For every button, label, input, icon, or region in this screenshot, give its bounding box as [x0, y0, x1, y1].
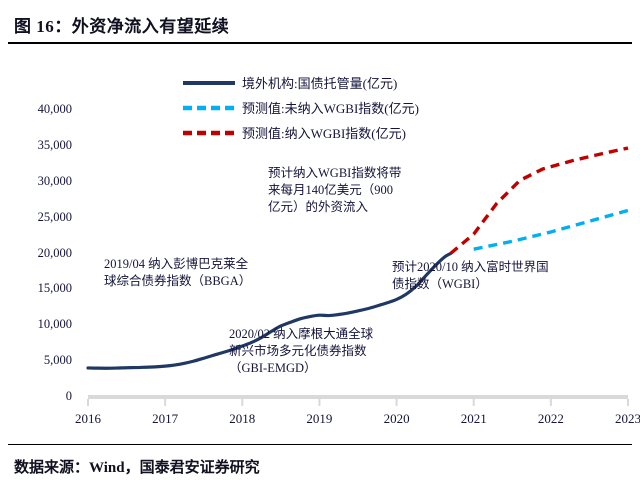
line-dashed-icon — [182, 101, 236, 115]
y-tick-label: 15,000 — [14, 281, 72, 296]
annotation-wgbi-inflow: 预计纳入WGBI指数将带 来每月140亿美元（900 亿元）的外资流入 — [268, 165, 468, 216]
x-tick-label: 2021 — [448, 411, 500, 427]
y-tick-label: 40,000 — [14, 102, 72, 117]
y-tick-label: 30,000 — [14, 174, 72, 189]
series-line-2 — [451, 148, 628, 253]
legend-item-1[interactable]: 境外机构:国债托管量(亿元) — [182, 70, 602, 95]
legend-item-2[interactable]: 预测值:未纳入WGBI指数(亿元) — [182, 95, 602, 120]
y-tick-label: 5,000 — [14, 353, 72, 368]
legend-label: 预测值:未纳入WGBI指数(亿元) — [242, 98, 419, 117]
y-tick-label: 20,000 — [14, 246, 72, 261]
figure-container: 图 16：外资净流入有望延续 40,00035,00030,00025,0002… — [0, 0, 640, 490]
annotation-bbga: 2019/04 纳入彭博巴克莱全 球综合债券指数（BBGA） — [104, 256, 314, 290]
chart-legend: 境外机构:国债托管量(亿元)预测值:未纳入WGBI指数(亿元)预测值:纳入WGB… — [182, 70, 602, 145]
series-line-3 — [474, 210, 628, 249]
title-divider — [8, 42, 632, 44]
legend-label: 境外机构:国债托管量(亿元) — [242, 73, 397, 92]
x-tick-label: 2020 — [371, 411, 423, 427]
source-divider — [8, 444, 632, 445]
x-tick-label: 2018 — [216, 411, 268, 427]
annotation-gbi-emgd: 2020/02 纳入摩根大通全球 新兴市场多元化债券指数 （GBI-EMGD） — [229, 326, 439, 377]
x-tick-label: 2023 — [602, 411, 640, 427]
y-tick-label: 0 — [14, 389, 72, 404]
x-tick-label: 2022 — [525, 411, 577, 427]
figure-source: 数据来源：Wind，国泰君安证券研究 — [14, 456, 260, 477]
x-tick-label: 2019 — [293, 411, 345, 427]
y-tick-label: 25,000 — [14, 210, 72, 225]
line-dashed-icon — [182, 126, 236, 140]
x-tick-label: 2016 — [62, 411, 114, 427]
legend-item-3[interactable]: 预测值:纳入WGBI指数(亿元) — [182, 120, 602, 145]
figure-title: 图 16：外资净流入有望延续 — [14, 12, 229, 37]
line-solid-icon — [182, 76, 236, 90]
y-tick-label: 10,000 — [14, 317, 72, 332]
x-tick-label: 2017 — [139, 411, 191, 427]
y-tick-label: 35,000 — [14, 138, 72, 153]
legend-label: 预测值:纳入WGBI指数(亿元) — [242, 123, 406, 142]
annotation-wgbi-inclusion: 预计2020/10 纳入富时世界国 债指数（WGBI） — [392, 259, 582, 293]
